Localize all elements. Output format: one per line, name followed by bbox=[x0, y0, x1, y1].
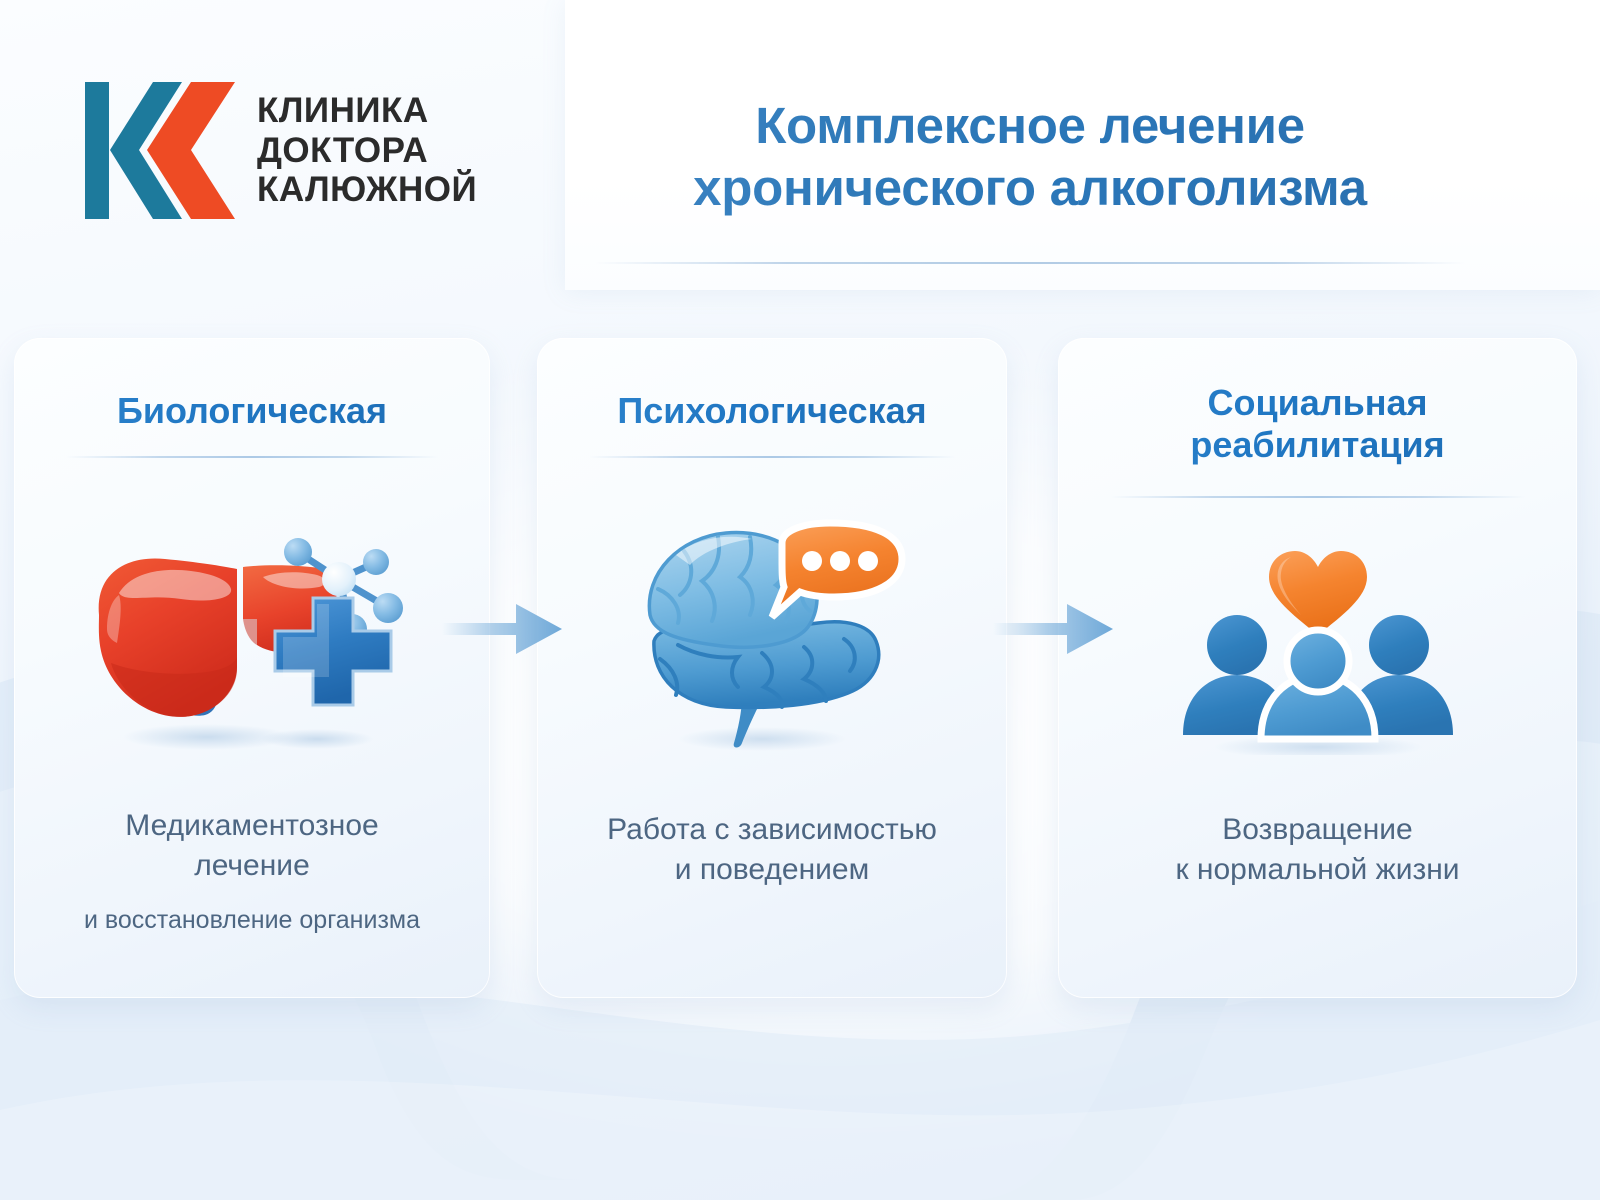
caption-primary: Работа с зависимостью и поведением bbox=[563, 810, 981, 890]
brain-speech-bubble-icon bbox=[622, 511, 922, 751]
card-caption: Возвращение к нормальной жизни bbox=[1084, 810, 1551, 890]
people-heart-icon bbox=[1173, 535, 1463, 755]
page-title: Комплексное лечение хронического алкогол… bbox=[600, 95, 1460, 219]
card-title: Психологическая bbox=[537, 390, 1007, 432]
card-title: Биологическая bbox=[14, 390, 490, 432]
brand-name: КЛИНИКА ДОКТОРА КАЛЮЖНОЙ bbox=[257, 91, 477, 210]
stage-card-biological[interactable]: Биологическая bbox=[14, 338, 490, 998]
caption-secondary: и восстановление организма bbox=[40, 904, 464, 937]
card-divider bbox=[589, 456, 955, 458]
brand-logo[interactable]: КЛИНИКА ДОКТОРА КАЛЮЖНОЙ bbox=[85, 78, 477, 223]
icon-container bbox=[1058, 520, 1577, 770]
kk-logo-icon bbox=[85, 78, 235, 223]
infographic-canvas: КЛИНИКА ДОКТОРА КАЛЮЖНОЙ Комплексное леч… bbox=[0, 0, 1600, 1200]
card-caption: Работа с зависимостью и поведением bbox=[563, 810, 981, 890]
arrow-step-1-to-2 bbox=[442, 598, 562, 660]
icon-container bbox=[14, 506, 490, 756]
caption-primary: Возвращение к нормальной жизни bbox=[1084, 810, 1551, 890]
stage-card-social[interactable]: Социальная реабилитация bbox=[1058, 338, 1577, 998]
card-divider bbox=[1110, 496, 1525, 498]
card-caption: Медикаментозное лечение и восстановление… bbox=[40, 806, 464, 936]
stage-card-psychological[interactable]: Психологическая bbox=[537, 338, 1007, 998]
card-title: Социальная реабилитация bbox=[1058, 382, 1577, 467]
liver-cross-molecule-icon bbox=[87, 511, 417, 751]
caption-primary: Медикаментозное лечение bbox=[40, 806, 464, 886]
card-divider bbox=[66, 456, 438, 458]
arrow-step-2-to-3 bbox=[993, 598, 1113, 660]
icon-container bbox=[537, 506, 1007, 756]
header-divider bbox=[595, 262, 1465, 264]
